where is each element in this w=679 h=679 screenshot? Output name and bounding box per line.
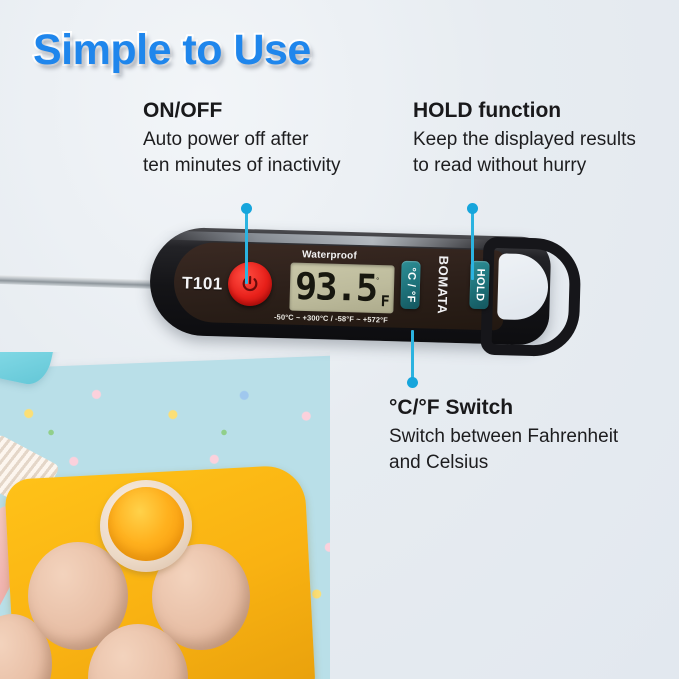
leader-dot-cf (407, 377, 418, 388)
leader-dot-onoff (241, 203, 252, 214)
callout-hold-heading: HOLD function (413, 98, 636, 124)
model-label: T101 (182, 273, 223, 294)
callout-cf-line1: Switch between Fahrenheit (389, 424, 618, 449)
egg-yolk (108, 487, 184, 561)
callout-hold-body: Keep the displayed results to read witho… (413, 127, 636, 178)
callout-onoff-line2: ten minutes of inactivity (143, 153, 340, 178)
waterproof-label: Waterproof (302, 249, 357, 262)
digital-thermometer: T101 Waterproof 93.5 ° F -50°C ~ +300°C … (150, 232, 550, 340)
brand-label-wrap: BOMATA (432, 258, 454, 313)
hold-button-label: HOLD (473, 268, 486, 301)
product-lifestyle-photo (0, 352, 330, 679)
lcd-unit-label: F (380, 294, 389, 309)
lcd-temperature-value: 93.5 (294, 264, 376, 312)
callout-hold-line1: Keep the displayed results (413, 127, 636, 152)
leader-line-onoff (245, 208, 248, 284)
celsius-fahrenheit-button-label: °C / °F (404, 267, 417, 303)
brand-label: BOMATA (435, 255, 452, 314)
leader-dot-hold (467, 203, 478, 214)
leader-line-hold (471, 208, 474, 280)
callout-cf: °C/°F Switch Switch between Fahrenheit a… (389, 395, 618, 475)
leader-line-cf (411, 330, 414, 382)
callout-hold: HOLD function Keep the displayed results… (413, 98, 636, 178)
callout-onoff-line1: Auto power off after (143, 127, 340, 152)
callout-onoff-heading: ON/OFF (143, 98, 340, 124)
page-title: Simple to Use (33, 26, 311, 75)
lcd-degree-symbol: ° (376, 276, 379, 285)
celsius-fahrenheit-button[interactable]: °C / °F (400, 261, 420, 310)
lcd-display: 93.5 ° F (289, 263, 394, 314)
callout-hold-line2: to read without hurry (413, 153, 636, 178)
callout-cf-line2: and Celsius (389, 450, 618, 475)
power-icon (240, 274, 261, 295)
infographic-canvas: Simple to Use T101 Waterproof (0, 0, 679, 679)
callout-cf-heading: °C/°F Switch (389, 395, 618, 421)
callout-onoff: ON/OFF Auto power off after ten minutes … (143, 98, 340, 178)
cracked-egg-shell (100, 480, 192, 572)
callout-cf-body: Switch between Fahrenheit and Celsius (389, 424, 618, 475)
callout-onoff-body: Auto power off after ten minutes of inac… (143, 127, 340, 178)
